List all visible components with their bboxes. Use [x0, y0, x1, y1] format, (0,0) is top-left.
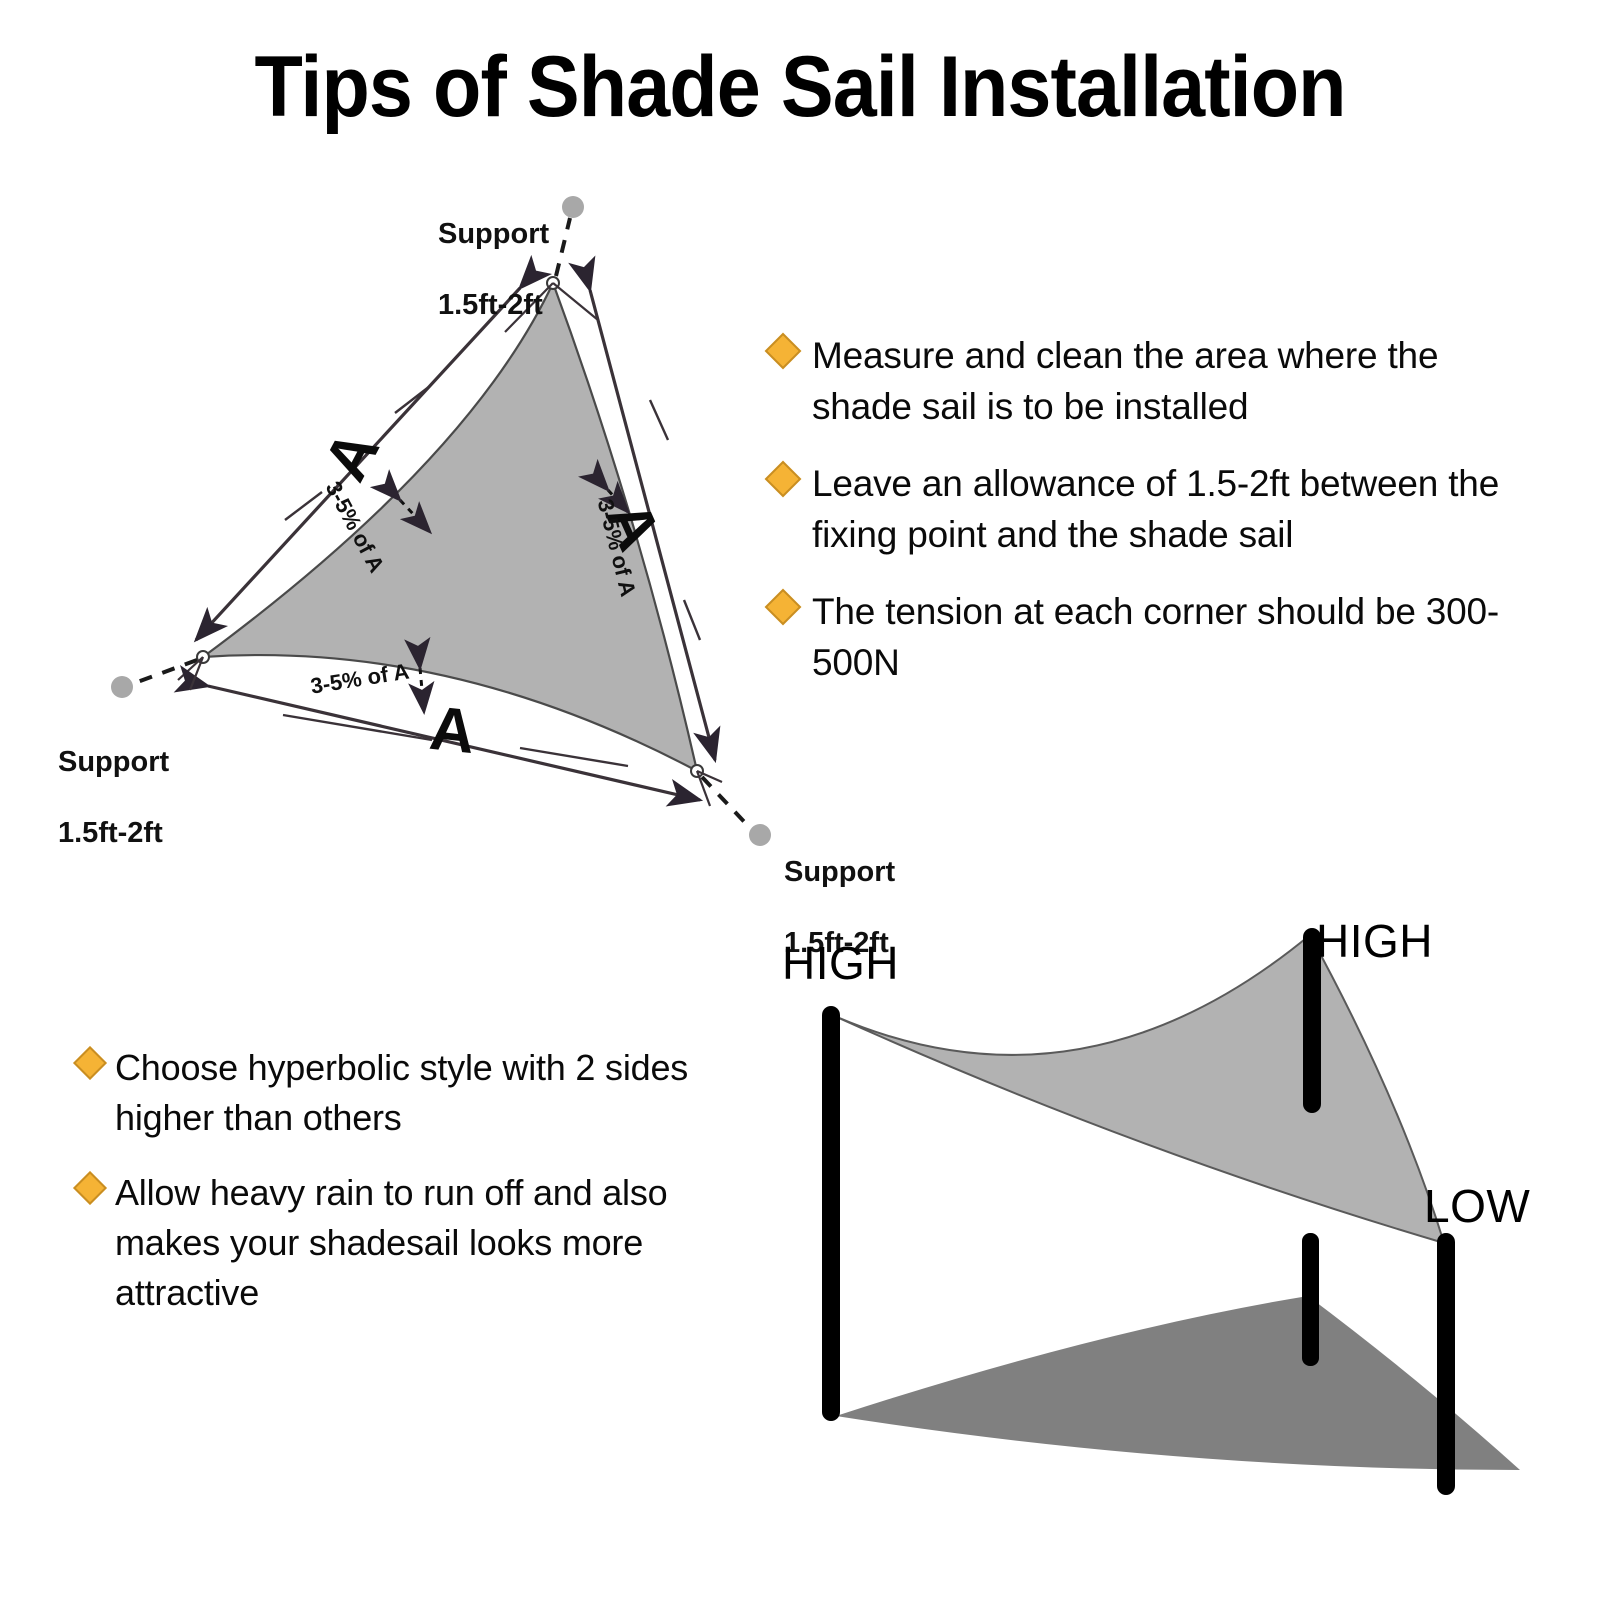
support-label-top-line1: Support: [438, 218, 549, 250]
support-label-top: Support 1.5ft-2ft: [438, 182, 549, 324]
support-connector-bottom: [702, 777, 751, 829]
page-title: Tips of Shade Sail Installation: [64, 44, 1536, 130]
list-item-label: Allow heavy rain to run off and also mak…: [115, 1168, 768, 1317]
diamond-bullet-icon: [765, 333, 802, 370]
pole-middle: [1302, 1233, 1319, 1366]
label-high-right: HIGH: [1316, 918, 1433, 964]
support-label-left-line2: 1.5ft-2ft: [58, 817, 163, 849]
dimension-leader-right-lower: [684, 600, 700, 640]
pole-low-right: [1437, 1233, 1455, 1495]
dimension-tick-right-bottom: [697, 771, 722, 782]
corner-eyelet-bottom-right: [691, 765, 703, 777]
hyperbolic-sail-diagram: [0, 0, 1600, 1600]
support-label-left: Support 1.5ft-2ft: [58, 710, 169, 852]
support-label-top-line2: 1.5ft-2ft: [438, 289, 543, 321]
dimension-tick-bottom-left: [190, 657, 203, 690]
dimension-leader-right-upper: [650, 400, 668, 440]
support-connector-top: [556, 218, 570, 276]
diamond-bullet-icon: [765, 461, 802, 498]
label-low: LOW: [1424, 1183, 1530, 1229]
list-item: Allow heavy rain to run off and also mak…: [78, 1168, 768, 1317]
sail-ground-shadow: [836, 1296, 1520, 1470]
list-item: Leave an allowance of 1.5-2ft between th…: [770, 458, 1530, 560]
dimension-label-a-left: A: [315, 422, 391, 491]
curvature-indicator-bottom: [420, 668, 424, 712]
dimension-leader-left-upper: [395, 386, 430, 413]
pole-high-left: [822, 1006, 840, 1421]
curvature-label-bottom: 3-5% of A: [309, 660, 411, 697]
label-high-left: HIGH: [782, 940, 899, 986]
dimension-label-a-bottom: A: [427, 698, 478, 764]
list-item-label: Leave an allowance of 1.5-2ft between th…: [812, 458, 1530, 560]
support-dot-bottom: [749, 824, 771, 846]
dimension-leader-left-lower: [285, 492, 322, 520]
list-item: The tension at each corner should be 300…: [770, 586, 1530, 688]
diamond-bullet-icon: [73, 1171, 107, 1205]
support-label-left-line1: Support: [58, 746, 169, 778]
support-dot-top: [562, 196, 584, 218]
dimension-leader-bottom-right: [520, 748, 628, 766]
corner-eyelet-left: [197, 651, 209, 663]
support-label-bottom-line1: Support: [784, 856, 895, 888]
support-connector-left: [132, 660, 197, 684]
diamond-bullet-icon: [765, 589, 802, 626]
curvature-indicator-left: [400, 500, 430, 532]
dimension-tick-right-top: [553, 283, 598, 320]
dimension-leader-bottom-left: [283, 715, 432, 740]
list-item: Measure and clean the area where the sha…: [770, 330, 1530, 432]
list-item-label: Choose hyperbolic style with 2 sides hig…: [115, 1043, 768, 1142]
list-item-label: Measure and clean the area where the sha…: [812, 330, 1530, 432]
diamond-bullet-icon: [73, 1046, 107, 1080]
dimension-tick-bottom-right: [697, 771, 710, 806]
triangle-sail-diagram: [0, 0, 1600, 1600]
curvature-label-left: 3-5% of A: [322, 478, 388, 576]
tips-list-right: Measure and clean the area where the sha…: [770, 330, 1530, 714]
hyperbolic-sail-shape: [830, 935, 1444, 1243]
tips-list-left: Choose hyperbolic style with 2 sides hig…: [78, 1043, 768, 1343]
dimension-tick-left-bottom: [178, 657, 203, 680]
list-item: Choose hyperbolic style with 2 sides hig…: [78, 1043, 768, 1142]
list-item-label: The tension at each corner should be 300…: [812, 586, 1530, 688]
support-dot-left: [111, 676, 133, 698]
